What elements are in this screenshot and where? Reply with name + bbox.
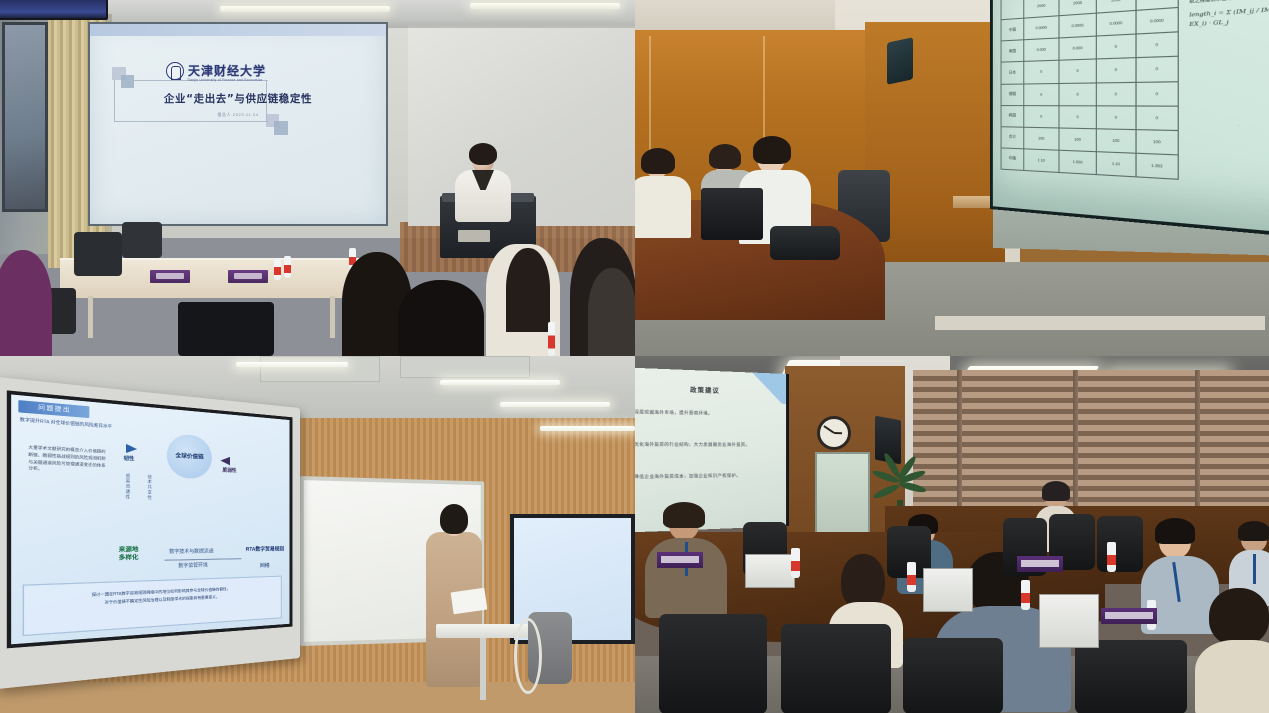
table-cell: 1.10 xyxy=(1096,152,1136,177)
chair xyxy=(178,302,274,356)
podium-monitor xyxy=(458,230,490,242)
table-cell: 100 xyxy=(1096,129,1136,154)
table-cell: 0 xyxy=(1096,82,1136,106)
participant-hair xyxy=(1155,518,1195,544)
plant-leaf xyxy=(898,480,927,494)
water-bottle xyxy=(548,322,555,356)
diagram-bottom-mid-top: 数字技术与数据流通 xyxy=(169,548,213,555)
ceiling-light xyxy=(470,3,620,9)
participant-hair xyxy=(1042,481,1070,501)
table-cell: 0 xyxy=(1136,32,1178,58)
table-cell: 日本 xyxy=(1001,62,1024,84)
clock-hour-hand xyxy=(834,432,842,434)
name-placard xyxy=(1017,556,1063,572)
clock-minute-hand xyxy=(824,426,835,434)
ceiling-light xyxy=(236,362,348,367)
slide-frame-line xyxy=(114,121,268,122)
panel-smartboard: 问题提出 数字提升RTA 对全球价值链的风险差异水平 大量学术文献研究的概念介入… xyxy=(0,356,635,713)
speaker-person xyxy=(452,146,514,220)
table-cell: 德国 xyxy=(1001,83,1024,105)
table-row: 日本0000 xyxy=(1001,57,1178,84)
table-cell: 0 xyxy=(1096,34,1136,59)
diagram-vlabel-right: 技术共享性 xyxy=(148,475,154,501)
name-placard xyxy=(657,552,703,568)
table-cell: 0 xyxy=(1024,83,1059,105)
table-cell: 100 xyxy=(1059,128,1096,152)
table-cell: 中国 xyxy=(1001,18,1024,41)
table-cell: 0.0000 xyxy=(1136,8,1178,35)
flipchart xyxy=(815,452,870,536)
audience-hair xyxy=(506,248,550,332)
attendee-hair xyxy=(709,144,741,169)
table-cell: 韩国 xyxy=(1001,105,1024,127)
panel-seminar-discussion: 政策建议 一、深度挖掘海外市场，提升营商环境。 二、优化海外投资的行业结构，大力… xyxy=(635,356,1269,713)
slide-bullet: 二、优化海外投资的行业结构，大力发展服务业海外投资。 xyxy=(635,441,783,448)
attendee-hair xyxy=(641,148,675,174)
university-name-en: Tianjin University of Finance and Econom… xyxy=(187,78,263,82)
ceiling-monitor xyxy=(0,0,108,20)
projection-screen: 2000200520102015中国0.00000.00000.00000.00… xyxy=(990,0,1269,244)
slide-top-band xyxy=(90,24,386,36)
table-cell: 0.000 xyxy=(1059,36,1096,60)
speaker-hair xyxy=(469,143,497,165)
table-header-cell xyxy=(1001,0,1024,20)
ceiling-light xyxy=(440,380,560,385)
table-cell: 美国 xyxy=(1001,40,1024,62)
participant-hair xyxy=(1238,521,1269,541)
plant-leaf xyxy=(872,482,900,500)
panel-lecture-hall: 天津财经大学 Tianjin University of Finance and… xyxy=(0,0,635,356)
presenter-hair xyxy=(440,504,468,534)
table-cell: 0.000 xyxy=(1024,38,1059,62)
ceiling-panel xyxy=(260,356,380,382)
table-cell: 0.0000 xyxy=(1024,16,1059,40)
projection-screen: 天津财经大学 Tianjin University of Finance and… xyxy=(88,22,388,226)
table-cell: 0 xyxy=(1059,105,1096,128)
laptop xyxy=(1039,594,1099,648)
presenter-person xyxy=(418,504,488,694)
water-bottle xyxy=(284,256,291,278)
slide-body: 大量学术文献研究的概念介入价值链的断链、脆弱性挑战规则的风险观测机制与关键通道风… xyxy=(28,445,106,476)
decor-square xyxy=(121,75,134,88)
participant-hair xyxy=(1209,588,1269,646)
photo-collage: 天津财经大学 Tianjin University of Finance and… xyxy=(0,0,1269,713)
ceiling-panel xyxy=(400,356,530,378)
table-cell: 合计 xyxy=(1001,126,1024,148)
laptop xyxy=(923,568,973,612)
table-row: 德国0000 xyxy=(1001,81,1178,106)
table-cell: 100 xyxy=(1136,129,1178,154)
chair xyxy=(659,614,767,713)
presenter-handout xyxy=(451,588,488,615)
window xyxy=(2,22,48,212)
table-leg xyxy=(330,296,335,338)
audience-person xyxy=(0,250,52,356)
slide-bullet: 三、降低企业海外投资成本，加强企业知识产权保护。 xyxy=(635,472,783,480)
chair xyxy=(1075,640,1187,713)
slide-bullet: 一、深度挖掘海外市场，提升营商环境。 xyxy=(635,409,783,418)
diagram-right-node: 脆弱性 xyxy=(223,467,237,474)
water-bottle xyxy=(1021,580,1030,610)
baseboard xyxy=(935,316,1265,330)
arrow-left-icon xyxy=(220,456,230,465)
diagram-center-node: 全球价值链 xyxy=(167,433,212,479)
formula-text: length_i = Σ (IM_ij / IM_i) · GL_j Σ (EX… xyxy=(1189,1,1269,30)
diagram-bottom-right-sub: 网络 xyxy=(260,562,270,569)
table-cell: 1.353 xyxy=(1136,153,1178,179)
lanyard xyxy=(1253,554,1256,584)
diagram-bottom-mid-bot: 数字监管环境 xyxy=(178,562,207,569)
chair xyxy=(1097,516,1143,572)
table-cell: 0 xyxy=(1136,106,1178,131)
wall-clock xyxy=(817,416,851,450)
smart-board: 问题提出 数字提升RTA 对全球价值链的风险差异水平 大量学术文献研究的概念介入… xyxy=(0,377,300,689)
presenter-hair xyxy=(753,136,791,164)
table-cell: 1.000 xyxy=(1059,150,1096,175)
table-cell: 0 xyxy=(1024,61,1059,84)
table-cell: 0 xyxy=(1024,105,1059,127)
table-cell: 均值 xyxy=(1001,148,1024,171)
attendee-person xyxy=(635,152,689,242)
chair xyxy=(903,638,1003,713)
slide-meta: 报告人 2023.11.04 xyxy=(90,112,386,118)
moderator-hair xyxy=(663,502,705,528)
wall-speaker-icon xyxy=(887,37,913,85)
table-cell: 1.10 xyxy=(1024,149,1059,173)
table-cell: 0 xyxy=(1136,81,1178,106)
water-bottle xyxy=(274,258,281,280)
diagram-bottom-left: 来源地 多样化 xyxy=(119,547,139,563)
name-placard xyxy=(1101,608,1157,624)
ceiling-light xyxy=(540,426,635,431)
university-name-cn: 天津财经大学 xyxy=(188,65,266,77)
smart-board-screen: 问题提出 数字提升RTA 对全球价值链的风险差异水平 大量学术文献研究的概念介入… xyxy=(7,390,293,648)
participant-person xyxy=(1195,588,1269,713)
table-cell: 0 xyxy=(1059,82,1096,105)
name-placard xyxy=(150,270,190,283)
university-seal-icon xyxy=(166,62,184,80)
water-bottle xyxy=(791,548,800,578)
attendee-body xyxy=(635,176,691,238)
table-leg xyxy=(88,296,93,338)
diagram-bottom-right: RTA数字贸易规则 xyxy=(246,545,284,553)
chair xyxy=(781,624,891,713)
slide-section-tag: 问题提出 xyxy=(18,400,89,418)
name-placard xyxy=(228,270,268,283)
results-table: 2000200520102015中国0.00000.00000.00000.00… xyxy=(1001,0,1179,180)
arrow-right-icon xyxy=(126,444,137,454)
chair xyxy=(122,222,162,258)
table-cell: 0 xyxy=(1096,58,1136,82)
audience-person xyxy=(588,268,635,356)
cable-coil xyxy=(514,618,542,694)
slide-lead: 数字提升RTA 对全球价值链的风险差异水平 xyxy=(20,417,116,431)
slide-title: 企业“走出去”与供应链稳定性 xyxy=(90,91,386,106)
table-cell: 0 xyxy=(1136,57,1178,82)
water-bottle xyxy=(907,562,916,592)
decor-square xyxy=(274,121,288,135)
table-cell: 0.0000 xyxy=(1096,11,1136,37)
chair xyxy=(74,232,122,276)
table-cell: 0.0000 xyxy=(1059,13,1096,38)
ceiling-light xyxy=(220,6,390,12)
lectern-leg xyxy=(480,638,486,700)
slide-footer-box: 探讨一国在RTA数字贸易规则网络中的地位如何影响其参与全球价值链的韧性， 对于价… xyxy=(23,576,282,636)
participant-body xyxy=(1195,640,1269,713)
slide-note: 产业链在国际上游位置 有利用企业进口上游中间品 取之程度表示全球生产链国内长度 … xyxy=(1189,0,1269,30)
audience-person xyxy=(398,280,484,356)
handbag xyxy=(770,226,840,260)
diagram-divider xyxy=(164,558,241,561)
laptop xyxy=(745,554,795,588)
diagram-left-node: 韧性 xyxy=(124,455,135,462)
laptop xyxy=(701,188,763,240)
table-cell: 100 xyxy=(1024,127,1059,150)
note-line: 取之程度表示全球生产链国内长度 xyxy=(1189,0,1269,5)
diagram-vlabel-left: 贸易流通性 xyxy=(126,474,132,500)
table-cell: 0 xyxy=(1059,59,1096,83)
panel-meeting-room: 2000200520102015中国0.00000.00000.00000.00… xyxy=(635,0,1269,356)
table-cell: 0 xyxy=(1096,105,1136,129)
water-bottle xyxy=(1107,542,1116,572)
ceiling-light xyxy=(500,402,610,407)
